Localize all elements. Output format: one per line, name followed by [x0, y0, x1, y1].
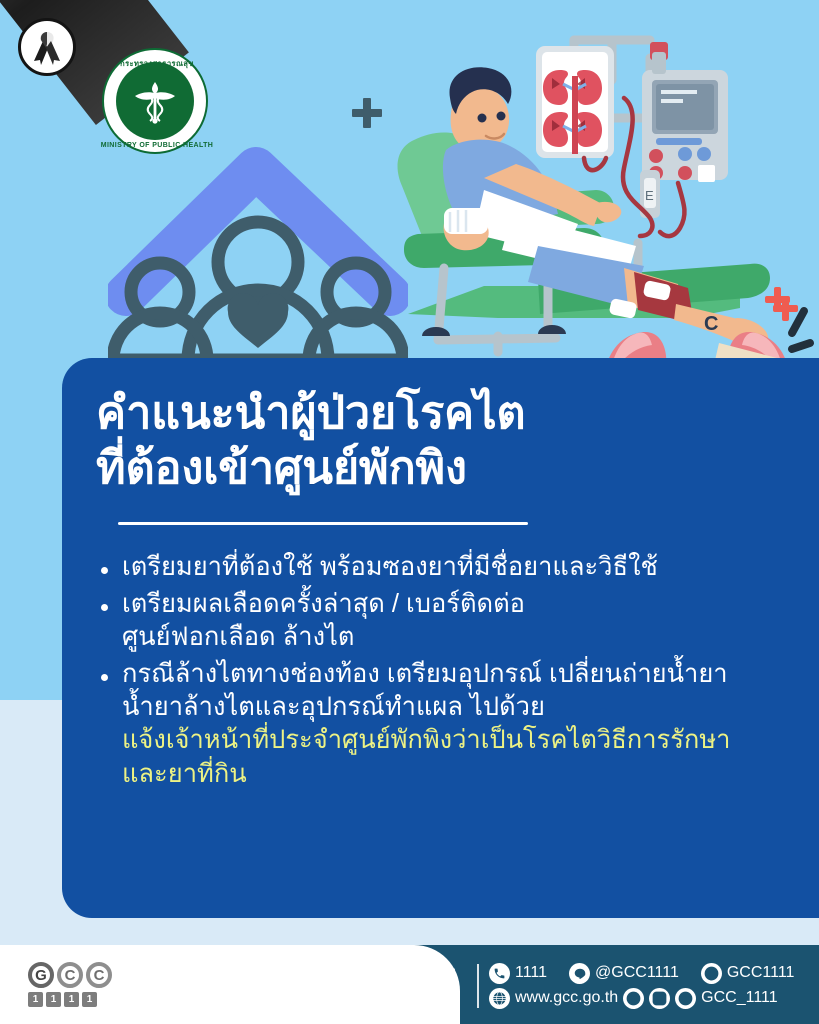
- svg-text:LINE: LINE: [576, 971, 584, 975]
- gcc-digit: 1: [46, 992, 61, 1007]
- gcc-logo: G C C 1 1 1 1: [28, 962, 112, 1007]
- gcc-logo-letters: G C C: [28, 962, 112, 988]
- advice-list: เตรียมยาที่ต้องใช้ พร้อมซองยาที่มีชื่อยา…: [96, 551, 785, 791]
- line-icon: LINE: [569, 963, 590, 984]
- tiktok-icon: [675, 988, 696, 1009]
- phone-icon: [489, 963, 510, 984]
- gcc-letter: C: [57, 962, 83, 988]
- list-item: เตรียมยาที่ต้องใช้ พร้อมซองยาที่มีชื่อยา…: [96, 551, 785, 584]
- bullet-line: เตรียมผลเลือดครั้งล่าสุด / เบอร์ติดต่อ: [122, 588, 785, 621]
- gcc-letter: C: [86, 962, 112, 988]
- gcc-logo-numbers: 1 1 1 1: [28, 992, 112, 1007]
- bullet-line: กรณีล้างไตทางช่องท้อง เตรียมอุปกรณ์ เปลี…: [122, 658, 785, 691]
- social-handle[interactable]: GCC_1111: [701, 986, 777, 1011]
- line-id[interactable]: @GCC1111: [595, 961, 679, 986]
- gcc-digit: 1: [82, 992, 97, 1007]
- bullet-line-highlight: และยาที่กิน: [122, 758, 785, 791]
- shelter-family-icon: [108, 110, 408, 360]
- x-twitter-icon: [623, 988, 644, 1009]
- org-name-thai: ศูนย์บริการข้อมูลภาครัฐเพื่อประชาชน: [205, 961, 473, 986]
- gcc-digit: 1: [64, 992, 79, 1007]
- instagram-icon: [649, 988, 670, 1009]
- contact-row-2: www.gcc.go.th: [489, 986, 794, 1011]
- gcc-digit: 1: [28, 992, 43, 1007]
- black-ribbon-icon: [18, 18, 76, 76]
- title-line-1: คำแนะนำผู้ป่วยโรคไต: [96, 386, 656, 441]
- title-line-2: ที่ต้องเข้าศูนย์พักพิง: [96, 441, 656, 496]
- org-name-english: (Government Contact Center): [205, 986, 473, 1011]
- infographic-poster: กระทรวงสาธารณสุข MINISTRY OF PUBLIC HEAL…: [0, 0, 819, 1024]
- bullet-line: ศูนย์ฟอกเลือด ล้างไต: [122, 621, 785, 654]
- page-title: คำแนะนำผู้ป่วยโรคไต ที่ต้องเข้าศูนย์พักพ…: [96, 386, 656, 496]
- svg-text:E: E: [645, 188, 654, 203]
- contact-block: 1111 LINE @GCC1111 GCC1111: [489, 961, 794, 1011]
- bullet-line-highlight: แจ้งเจ้าหน้าที่ประจำศูนย์พักพิงว่าเป็นโร…: [122, 724, 785, 757]
- list-item: กรณีล้างไตทางช่องท้อง เตรียมอุปกรณ์ เปลี…: [96, 658, 785, 791]
- plus-icon: [352, 98, 382, 128]
- phone-number[interactable]: 1111: [515, 961, 547, 986]
- title-divider: [118, 522, 528, 525]
- moph-thai-text: กระทรวงสาธารณสุข: [120, 58, 194, 70]
- footer-divider: [477, 964, 479, 1008]
- content-card: คำแนะนำผู้ป่วยโรคไต ที่ต้องเข้าศูนย์พักพ…: [62, 358, 819, 918]
- bullet-line: เตรียมยาที่ต้องใช้ พร้อมซองยาที่มีชื่อยา…: [122, 551, 785, 584]
- list-item: เตรียมผลเลือดครั้งล่าสุด / เบอร์ติดต่อ ศ…: [96, 588, 785, 654]
- facebook-page[interactable]: GCC1111: [727, 961, 795, 986]
- contact-row-1: 1111 LINE @GCC1111 GCC1111: [489, 961, 794, 986]
- website-url[interactable]: www.gcc.go.th: [515, 986, 618, 1011]
- footer-content: ศูนย์บริการข้อมูลภาครัฐเพื่อประชาชน (Gov…: [205, 951, 819, 1021]
- globe-icon: [489, 988, 510, 1009]
- gcc-letter: G: [28, 962, 54, 988]
- bullet-line: น้ำยาล้างไตและอุปกรณ์ทำแผล ไปด้วย: [122, 691, 785, 724]
- organization-name: ศูนย์บริการข้อมูลภาครัฐเพื่อประชาชน (Gov…: [205, 961, 473, 1012]
- facebook-icon: [701, 963, 722, 984]
